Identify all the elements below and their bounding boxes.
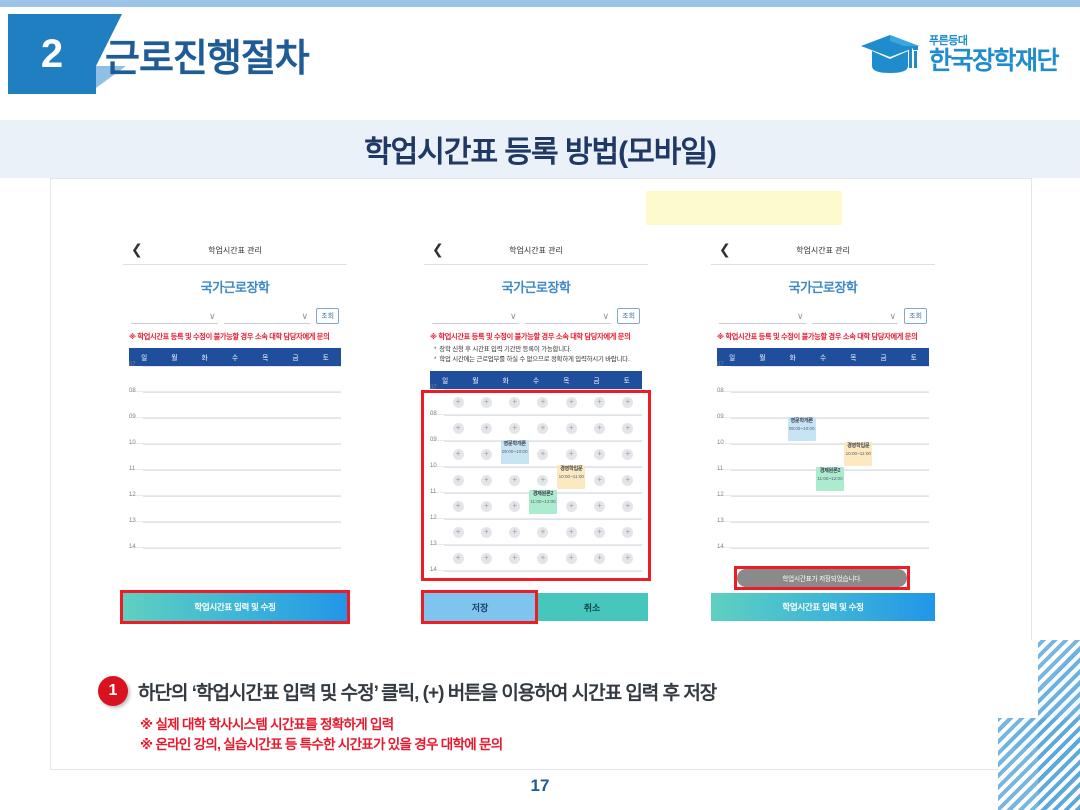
- chevron-down-icon: ∨: [890, 311, 897, 322]
- hour-divider: [143, 470, 341, 471]
- section-number: 2: [8, 14, 96, 94]
- slot-row: +++++++: [444, 392, 642, 412]
- nav-bar: ❮ 학업시간표 관리: [711, 239, 935, 265]
- course-block[interactable]: 영문학개론09:00~10:00: [501, 440, 529, 464]
- mobile-screen-3: ❮ 학업시간표 관리 국가근로장학 ∨ ∨ 조회 ※ 학업시간표 등록 및 수정…: [711, 239, 935, 621]
- timetable-cell[interactable]: +: [472, 522, 500, 542]
- nav-title: 학업시간표 관리: [424, 245, 648, 256]
- slide-section-title: 근로진행절차: [105, 27, 309, 82]
- timetable-cell[interactable]: +: [472, 470, 500, 490]
- plus-circle-icon[interactable]: +: [453, 397, 464, 408]
- plus-circle-icon[interactable]: +: [481, 475, 492, 486]
- weekday-cell: 금: [280, 348, 310, 366]
- plus-circle-icon[interactable]: +: [566, 527, 577, 538]
- timetable-cell[interactable]: +: [585, 548, 613, 568]
- timetable-cell[interactable]: +: [557, 392, 585, 412]
- timetable-cell[interactable]: +: [614, 548, 642, 568]
- timetable-cell[interactable]: +: [501, 522, 529, 542]
- time-label: 14: [430, 567, 437, 573]
- warning-text: ※ 학업시간표 등록 및 수정이 불가능할 경우 소속 대학 담당자에게 문의: [717, 332, 929, 342]
- page-heading: 국가근로장학: [711, 277, 935, 296]
- timetable-cell[interactable]: +: [444, 392, 472, 412]
- hour-divider: [444, 571, 642, 572]
- course-time: 11:00~12:00: [529, 499, 557, 504]
- plus-circle-icon[interactable]: +: [537, 397, 548, 408]
- course-name: 경제원론2: [816, 469, 844, 475]
- page-heading: 국가근로장학: [424, 277, 648, 296]
- plus-circle-icon[interactable]: +: [537, 475, 548, 486]
- plus-circle-icon[interactable]: +: [622, 475, 633, 486]
- graduation-cap-icon: [860, 33, 922, 77]
- time-label: 07: [717, 362, 724, 368]
- timetable-grid[interactable]: 0708091011121314: [129, 366, 341, 573]
- time-label: 13: [717, 518, 724, 524]
- year-select[interactable]: ∨: [719, 308, 806, 324]
- time-label: 12: [430, 515, 437, 521]
- stripe-mask: [998, 640, 1038, 718]
- hour-divider: [143, 366, 341, 367]
- time-label: 14: [717, 544, 724, 550]
- chevron-down-icon: ∨: [603, 311, 610, 322]
- time-label: 14: [129, 544, 136, 550]
- plus-circle-icon[interactable]: +: [509, 423, 520, 434]
- corner-stripe-decoration-inner: [1038, 718, 1080, 810]
- foundation-logo: 푸른등대 한국장학재단: [860, 30, 1058, 80]
- timetable-cell[interactable]: +: [444, 496, 472, 516]
- bottom-action-bar: 저장 취소: [424, 593, 648, 621]
- course-name: 영문학개론: [788, 419, 816, 425]
- year-select[interactable]: ∨: [131, 308, 218, 324]
- timetable-cell[interactable]: +: [501, 548, 529, 568]
- plus-circle-icon[interactable]: +: [566, 423, 577, 434]
- plus-circle-icon[interactable]: +: [622, 449, 633, 460]
- time-label: 10: [430, 463, 437, 469]
- course-name: 경제원론2: [529, 492, 557, 498]
- warning-text: ※ 학업시간표 등록 및 수정이 불가능할 경우 소속 대학 담당자에게 문의: [129, 332, 341, 342]
- timetable-cell[interactable]: +: [585, 522, 613, 542]
- plus-circle-icon[interactable]: +: [594, 397, 605, 408]
- plus-circle-icon[interactable]: +: [481, 527, 492, 538]
- plus-circle-icon[interactable]: +: [537, 449, 548, 460]
- toast-message: 학업시간표가 저장되었습니다.: [737, 569, 907, 587]
- plus-circle-icon[interactable]: +: [566, 501, 577, 512]
- timetable-cell[interactable]: +: [529, 470, 557, 490]
- highlight-box: [646, 191, 842, 225]
- time-label: 11: [129, 466, 135, 472]
- time-label: 08: [129, 388, 136, 394]
- warning-text: ※ 학업시간표 등록 및 수정이 불가능할 경우 소속 대학 담당자에게 문의: [430, 332, 642, 342]
- chevron-down-icon: ∨: [510, 311, 517, 322]
- timetable-cell[interactable]: +: [501, 470, 529, 490]
- weekday-cell: 화: [491, 371, 521, 389]
- timetable-row: 07: [717, 366, 929, 391]
- nav-title: 학업시간표 관리: [711, 245, 935, 256]
- plus-circle-icon[interactable]: +: [453, 501, 464, 512]
- timetable-cell[interactable]: +: [614, 470, 642, 490]
- timetable-cell[interactable]: +: [614, 418, 642, 438]
- plus-circle-icon[interactable]: +: [453, 475, 464, 486]
- plus-circle-icon[interactable]: +: [594, 501, 605, 512]
- course-time: 10:00~11:00: [844, 451, 872, 456]
- search-button[interactable]: 조회: [617, 308, 640, 324]
- timetable-row: 13+++++++: [430, 544, 642, 570]
- timetable-cell[interactable]: +: [444, 548, 472, 568]
- slot-row: +++++++: [444, 418, 642, 438]
- timetable-cell[interactable]: +: [614, 496, 642, 516]
- nav-title: 학업시간표 관리: [123, 245, 347, 256]
- instruction-step: 1 하단의 ‘학업시간표 입력 및 수정’ 클릭, (+) 버튼을 이용하여 시…: [98, 676, 716, 706]
- course-time: 09:00~10:00: [788, 426, 816, 431]
- plus-circle-icon[interactable]: +: [594, 527, 605, 538]
- weekday-header: 일 월 화 수 목 금 토: [430, 371, 642, 389]
- edit-timetable-button[interactable]: 학업시간표 입력 및 수정: [711, 593, 935, 621]
- slide-subtitle: 학업시간표 등록 방법(모바일): [364, 127, 716, 171]
- plus-circle-icon[interactable]: +: [594, 475, 605, 486]
- cancel-button[interactable]: 취소: [536, 593, 648, 621]
- chevron-down-icon: ∨: [209, 311, 216, 322]
- hour-divider: [143, 522, 341, 523]
- bullet-icon: *: [434, 346, 436, 355]
- weekday-cell: 토: [612, 371, 642, 389]
- plus-circle-icon[interactable]: +: [622, 397, 633, 408]
- search-button[interactable]: 조회: [904, 308, 927, 324]
- plus-circle-icon[interactable]: +: [594, 423, 605, 434]
- timetable-cell[interactable]: +: [529, 548, 557, 568]
- weekday-cell: 화: [778, 348, 808, 366]
- search-button[interactable]: 조회: [316, 308, 339, 324]
- course-name: 경영학입문: [844, 444, 872, 450]
- plus-circle-icon[interactable]: +: [481, 553, 492, 564]
- plus-circle-icon[interactable]: +: [622, 553, 633, 564]
- plus-circle-icon[interactable]: +: [481, 397, 492, 408]
- logo-name: 한국장학재단: [929, 49, 1058, 74]
- hour-divider: [143, 392, 341, 393]
- time-label: 11: [430, 489, 436, 495]
- list-item: *장학 신청 후 시간표 입력 기간만 등록이 가능합니다.: [434, 346, 642, 355]
- subnote: ※ 실제 대학 학사시스템 시간표를 정확하게 입력: [140, 715, 502, 735]
- timetable-cell[interactable]: +: [585, 470, 613, 490]
- weekday-cell: 목: [250, 348, 280, 366]
- plus-circle-icon[interactable]: +: [481, 449, 492, 460]
- semester-select[interactable]: ∨: [224, 308, 311, 324]
- timetable-cell[interactable]: +: [529, 392, 557, 412]
- course-block[interactable]: 경영학입문10:00~11:00: [844, 442, 872, 466]
- timetable-cell[interactable]: +: [472, 444, 500, 464]
- hour-divider: [731, 522, 929, 523]
- timetable-cell[interactable]: +: [472, 392, 500, 412]
- hour-divider: [731, 548, 929, 549]
- bottom-action-bar: 학업시간표 입력 및 수정: [711, 593, 935, 621]
- logo-tagline: 푸른등대: [929, 36, 1058, 47]
- nav-bar: ❮ 학업시간표 관리: [123, 239, 347, 265]
- timetable-row: 09: [717, 417, 929, 443]
- hour-divider: [444, 519, 642, 520]
- filter-row: ∨ ∨ 조회: [432, 308, 640, 324]
- hour-divider: [143, 444, 341, 445]
- timetable-grid[interactable]: 0708091011121314영문학개론09:00~10:00경영학입문10:…: [717, 366, 929, 573]
- plus-circle-icon[interactable]: +: [509, 397, 520, 408]
- weekday-cell: 토: [311, 348, 341, 366]
- timetable-cell[interactable]: +: [585, 496, 613, 516]
- timetable-cell[interactable]: +: [444, 444, 472, 464]
- hour-divider: [731, 444, 929, 445]
- timetable-row: 08+++++++: [430, 414, 642, 440]
- timetable-cell[interactable]: +: [557, 444, 585, 464]
- timetable-row: 08: [129, 391, 341, 417]
- timetable-cell[interactable]: +: [585, 392, 613, 412]
- note-text: 장학 신청 후 시간표 입력 기간만 등록이 가능합니다.: [439, 346, 571, 355]
- time-label: 10: [717, 440, 724, 446]
- plus-circle-icon[interactable]: +: [453, 449, 464, 460]
- hour-divider: [444, 467, 642, 468]
- time-label: 10: [129, 440, 136, 446]
- timetable-row: 10: [129, 443, 341, 469]
- plus-circle-icon[interactable]: +: [509, 501, 520, 512]
- plus-circle-icon[interactable]: +: [509, 553, 520, 564]
- plus-circle-icon[interactable]: +: [566, 553, 577, 564]
- slot-row: +++++++: [444, 470, 642, 490]
- weekday-cell: 월: [460, 371, 490, 389]
- timetable-cell[interactable]: +: [529, 418, 557, 438]
- timetable-cell[interactable]: +: [585, 418, 613, 438]
- plus-circle-icon[interactable]: +: [537, 423, 548, 434]
- time-label: 11: [717, 466, 723, 472]
- timetable-row: 07: [129, 366, 341, 391]
- weekday-cell: 금: [581, 371, 611, 389]
- hour-divider: [143, 496, 341, 497]
- course-name: 영문학개론: [501, 442, 529, 448]
- course-block[interactable]: 경제원론211:00~12:00: [816, 467, 844, 491]
- save-button[interactable]: 저장: [424, 593, 536, 621]
- course-time: 11:00~12:00: [816, 476, 844, 481]
- weekday-cell: 화: [190, 348, 220, 366]
- timetable-cell[interactable]: +: [557, 522, 585, 542]
- weekday-header: 일 월 화 수 목 금 토: [717, 348, 929, 366]
- step-badge: 1: [98, 676, 128, 706]
- timetable-row: 07+++++++: [430, 389, 642, 414]
- plus-circle-icon[interactable]: +: [566, 397, 577, 408]
- timetable-cell[interactable]: +: [444, 470, 472, 490]
- timetable-row: 09: [129, 417, 341, 443]
- timetable-cell[interactable]: +: [444, 522, 472, 542]
- weekday-cell: 목: [551, 371, 581, 389]
- filter-row: ∨ ∨ 조회: [131, 308, 339, 324]
- hour-divider: [731, 496, 929, 497]
- timetable-cell[interactable]: +: [472, 496, 500, 516]
- time-label: 13: [430, 541, 437, 547]
- weekday-cell: 수: [521, 371, 551, 389]
- year-select[interactable]: ∨: [432, 308, 519, 324]
- subnote: ※ 온라인 강의, 실습시간표 등 특수한 시간표가 있을 경우 대학에 문의: [140, 735, 502, 755]
- plus-circle-icon[interactable]: +: [509, 527, 520, 538]
- timetable-cell[interactable]: +: [614, 522, 642, 542]
- hour-divider: [731, 366, 929, 367]
- bullet-icon: *: [434, 356, 436, 365]
- time-label: 07: [430, 385, 437, 391]
- hour-divider: [143, 418, 341, 419]
- course-block[interactable]: 경영학입문10:00~11:00: [557, 465, 585, 489]
- timetable-cell[interactable]: +: [557, 496, 585, 516]
- course-block[interactable]: 영문학개론09:00~10:00: [788, 417, 816, 441]
- time-label: 09: [430, 437, 437, 443]
- course-block[interactable]: 경제원론211:00~12:00: [529, 490, 557, 514]
- time-label: 12: [717, 492, 724, 498]
- timetable-cell[interactable]: +: [557, 418, 585, 438]
- weekday-cell: 월: [747, 348, 777, 366]
- timetable-cell[interactable]: +: [557, 548, 585, 568]
- time-label: 12: [129, 492, 136, 498]
- timetable-row: 08: [717, 391, 929, 417]
- course-name: 경영학입문: [557, 467, 585, 473]
- plus-circle-icon[interactable]: +: [622, 501, 633, 512]
- plus-circle-icon[interactable]: +: [453, 553, 464, 564]
- plus-circle-icon[interactable]: +: [453, 423, 464, 434]
- slot-row: +++++++: [444, 522, 642, 542]
- note-list: *장학 신청 후 시간표 입력 기간만 등록이 가능합니다. *학업 시간에는 …: [434, 346, 642, 365]
- timetable-row: 13: [717, 521, 929, 547]
- timetable-cell[interactable]: +: [444, 418, 472, 438]
- hour-divider: [731, 392, 929, 393]
- weekday-cell: 목: [838, 348, 868, 366]
- note-text: 학업 시간에는 근로업무를 하실 수 없으므로 정확하게 입력하시기 바랍니다.: [439, 356, 629, 365]
- weekday-cell: 월: [159, 348, 189, 366]
- timetable-row: 12+++++++: [430, 518, 642, 544]
- plus-circle-icon[interactable]: +: [622, 423, 633, 434]
- timetable-row: 10: [717, 443, 929, 469]
- timetable-cell[interactable]: +: [472, 548, 500, 568]
- top-rule: [0, 0, 1080, 7]
- weekday-header: 일 월 화 수 목 금 토: [129, 348, 341, 366]
- timetable-cell[interactable]: +: [501, 496, 529, 516]
- plus-circle-icon[interactable]: +: [509, 475, 520, 486]
- weekday-cell: 수: [220, 348, 250, 366]
- page-number: 17: [0, 776, 1080, 796]
- timetable-cell[interactable]: +: [472, 418, 500, 438]
- hour-divider: [731, 418, 929, 419]
- timetable-cell[interactable]: +: [529, 444, 557, 464]
- slide-subtitle-band: 학업시간표 등록 방법(모바일): [0, 120, 1080, 178]
- weekday-cell: 수: [808, 348, 838, 366]
- semester-select[interactable]: ∨: [812, 308, 899, 324]
- timetable-cell[interactable]: +: [614, 392, 642, 412]
- plus-circle-icon[interactable]: +: [594, 553, 605, 564]
- time-label: 09: [717, 414, 724, 420]
- timetable-row: 14: [129, 547, 341, 573]
- plus-circle-icon[interactable]: +: [622, 527, 633, 538]
- plus-circle-icon[interactable]: +: [481, 423, 492, 434]
- plus-circle-icon[interactable]: +: [566, 449, 577, 460]
- plus-circle-icon[interactable]: +: [594, 449, 605, 460]
- plus-circle-icon[interactable]: +: [481, 501, 492, 512]
- time-label: 08: [430, 411, 437, 417]
- timetable-cell[interactable]: +: [529, 522, 557, 542]
- mobile-screen-1: ❮ 학업시간표 관리 국가근로장학 ∨ ∨ 조회 ※ 학업시간표 등록 및 수정…: [123, 239, 347, 621]
- instruction-text: 하단의 ‘학업시간표 입력 및 수정’ 클릭, (+) 버튼을 이용하여 시간표…: [138, 678, 716, 705]
- plus-circle-icon[interactable]: +: [537, 527, 548, 538]
- slot-row: +++++++: [444, 548, 642, 568]
- list-item: *학업 시간에는 근로업무를 하실 수 없으므로 정확하게 입력하시기 바랍니다…: [434, 356, 642, 365]
- chevron-down-icon: ∨: [797, 311, 804, 322]
- time-label: 07: [129, 362, 136, 368]
- weekday-cell: 토: [899, 348, 929, 366]
- timetable-row: 09+++++++: [430, 440, 642, 466]
- nav-bar: ❮ 학업시간표 관리: [424, 239, 648, 265]
- time-label: 13: [129, 518, 136, 524]
- page-heading: 국가근로장학: [123, 277, 347, 296]
- time-label: 09: [129, 414, 136, 420]
- hour-divider: [444, 441, 642, 442]
- course-time: 09:00~10:00: [501, 449, 529, 454]
- plus-circle-icon[interactable]: +: [537, 553, 548, 564]
- timetable-row: 13: [129, 521, 341, 547]
- edit-timetable-button[interactable]: 학업시간표 입력 및 수정: [123, 593, 347, 621]
- timetable-row: 12: [717, 495, 929, 521]
- time-label: 08: [717, 388, 724, 394]
- timetable-cell[interactable]: +: [501, 418, 529, 438]
- timetable-grid[interactable]: 07+++++++08+++++++09+++++++10+++++++11++…: [430, 389, 642, 596]
- filter-row: ∨ ∨ 조회: [719, 308, 927, 324]
- hour-divider: [444, 545, 642, 546]
- timetable-cell[interactable]: +: [614, 444, 642, 464]
- semester-select[interactable]: ∨: [525, 308, 612, 324]
- hour-divider: [444, 415, 642, 416]
- plus-circle-icon[interactable]: +: [453, 527, 464, 538]
- timetable-row: 10+++++++: [430, 466, 642, 492]
- course-time: 10:00~11:00: [557, 474, 585, 479]
- hour-divider: [143, 548, 341, 549]
- timetable-row: 11: [129, 469, 341, 495]
- chevron-down-icon: ∨: [302, 311, 309, 322]
- mobile-screen-2: ❮ 학업시간표 관리 국가근로장학 ∨ ∨ 조회 ※ 학업시간표 등록 및 수정…: [424, 239, 648, 621]
- weekday-cell: 금: [868, 348, 898, 366]
- timetable-row: 12: [129, 495, 341, 521]
- timetable-cell[interactable]: +: [501, 392, 529, 412]
- slot-row: +++++++: [444, 444, 642, 464]
- hour-divider: [444, 389, 642, 390]
- bottom-action-bar: 학업시간표 입력 및 수정: [123, 593, 347, 621]
- timetable-cell[interactable]: +: [585, 444, 613, 464]
- instruction-subnotes: ※ 실제 대학 학사시스템 시간표를 정확하게 입력 ※ 온라인 강의, 실습시…: [140, 715, 502, 756]
